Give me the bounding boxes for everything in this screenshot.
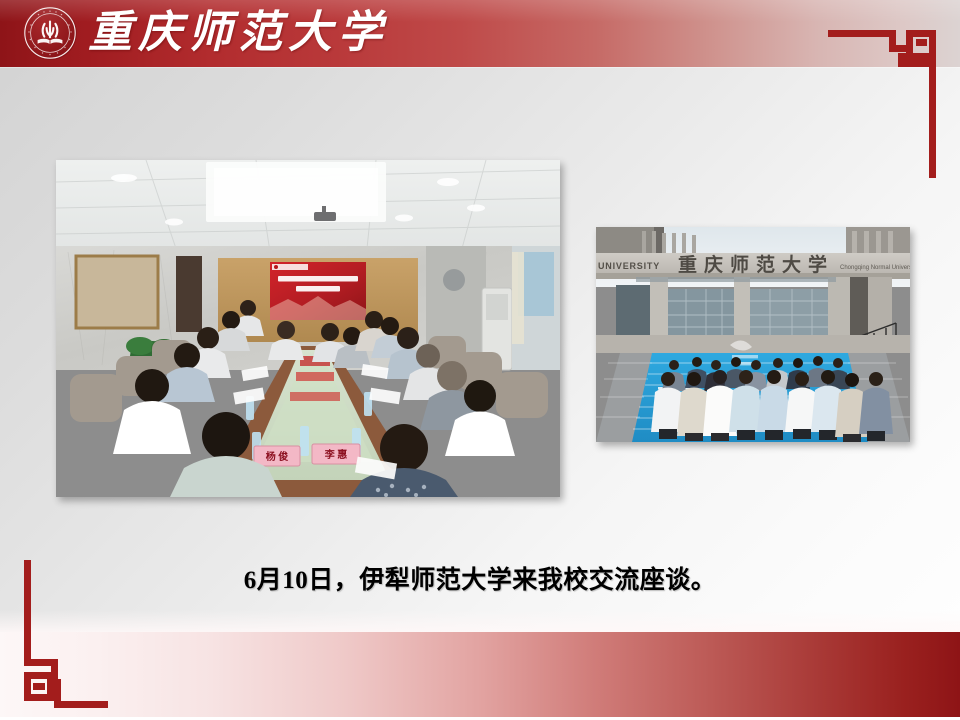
svg-text:重庆师范大学: 重庆师范大学 <box>678 253 834 276</box>
svg-text:杨 俊: 杨 俊 <box>266 450 289 463</box>
bottom-band-fade <box>0 610 960 632</box>
page-title: 重庆师范大学 <box>88 6 388 60</box>
group-photo: 重庆师范大学 UNIVERSITY Chongqing Normal Unive… <box>596 227 910 442</box>
slide-caption: 6月10日，伊犁师范大学来我校交流座谈。 <box>0 560 960 596</box>
presentation-slide: 重庆师范大学 <box>0 0 960 720</box>
svg-text:UNIVERSITY: UNIVERSITY <box>598 261 660 271</box>
university-seal-emblem <box>22 5 78 61</box>
svg-text:Chongqing Normal University: Chongqing Normal University <box>840 265 910 271</box>
meeting-room-photo: 杨 俊 李 惠 <box>56 160 560 497</box>
chinese-meander-corner-top-right-icon <box>828 8 946 186</box>
bottom-band <box>0 632 960 720</box>
chinese-meander-corner-bottom-left-icon <box>14 560 132 712</box>
header-band: 重庆师范大学 <box>0 0 960 67</box>
svg-text:李 惠: 李 惠 <box>324 448 348 461</box>
